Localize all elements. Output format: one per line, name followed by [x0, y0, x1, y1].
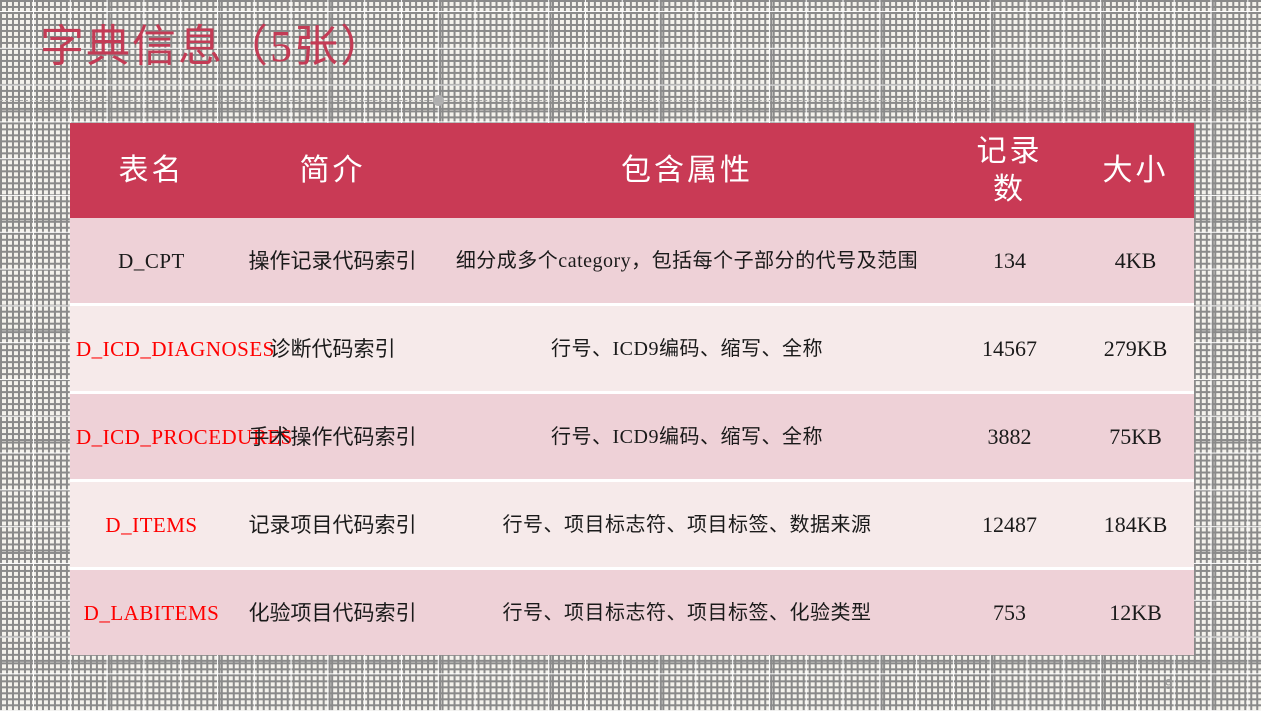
cell-summary: 记录项目代码索引 [233, 482, 432, 567]
column-header-record-count: 记录数 [942, 123, 1077, 218]
cell-size: 184KB [1077, 482, 1194, 567]
cell-record-count: 14567 [942, 306, 1077, 391]
table-row: D_ITEMS 记录项目代码索引 行号、项目标志符、项目标签、数据来源 1248… [70, 482, 1194, 567]
table-header: 表名 简介 包含属性 记录数 大小 [70, 123, 1194, 218]
slide-canvas: 字典信息（5张） 表名 简介 包含属性 记录数 大小 [0, 0, 1261, 711]
cell-record-count: 12487 [942, 482, 1077, 567]
table-row: D_ICD_PROCEDURES 手术操作代码索引 行号、ICD9编码、缩写、全… [70, 394, 1194, 479]
horizontal-guide-line[interactable] [0, 100, 1261, 102]
table-row: D_CPT 操作记录代码索引 细分成多个category，包括每个子部分的代号及… [70, 218, 1194, 303]
cell-size: 4KB [1077, 218, 1194, 303]
cell-record-count: 134 [942, 218, 1077, 303]
cell-summary: 操作记录代码索引 [233, 218, 432, 303]
dictionary-table: 表名 简介 包含属性 记录数 大小 D_CPT 操作记录代码索引 细分成多个ca… [70, 123, 1194, 655]
column-header-attributes: 包含属性 [432, 123, 942, 218]
cell-attributes: 行号、ICD9编码、缩写、全称 [432, 306, 942, 391]
cell-summary: 化验项目代码索引 [233, 570, 432, 655]
cell-attributes: 行号、项目标志符、项目标签、数据来源 [432, 482, 942, 567]
dictionary-table-container: 表名 简介 包含属性 记录数 大小 D_CPT 操作记录代码索引 细分成多个ca… [70, 123, 1194, 655]
cell-size: 279KB [1077, 306, 1194, 391]
guide-handle-icon[interactable] [433, 95, 444, 106]
slide-title: 字典信息（5张） [40, 18, 386, 76]
column-header-summary: 简介 [233, 123, 432, 218]
cell-summary: 手术操作代码索引 [233, 394, 432, 479]
cell-record-count: 753 [942, 570, 1077, 655]
cell-attributes: 细分成多个category，包括每个子部分的代号及范围 [432, 218, 942, 303]
cell-attributes: 行号、ICD9编码、缩写、全称 [432, 394, 942, 479]
table-row: D_LABITEMS 化验项目代码索引 行号、项目标志符、项目标签、化验类型 7… [70, 570, 1194, 655]
table-row: D_ICD_DIAGNOSES 诊断代码索引 行号、ICD9编码、缩写、全称 1… [70, 306, 1194, 391]
cell-table-name: D_ICD_DIAGNOSES [70, 306, 233, 391]
cell-table-name: D_CPT [70, 218, 233, 303]
table-body: D_CPT 操作记录代码索引 细分成多个category，包括每个子部分的代号及… [70, 218, 1194, 655]
cell-attributes: 行号、项目标志符、项目标签、化验类型 [432, 570, 942, 655]
cell-size: 12KB [1077, 570, 1194, 655]
cell-size: 75KB [1077, 394, 1194, 479]
page-number: 9 [1165, 676, 1173, 693]
cell-record-count: 3882 [942, 394, 1077, 479]
table-header-row: 表名 简介 包含属性 记录数 大小 [70, 123, 1194, 218]
cell-table-name: D_ICD_PROCEDURES [70, 394, 233, 479]
column-header-size: 大小 [1077, 123, 1194, 218]
cell-table-name: D_LABITEMS [70, 570, 233, 655]
cell-table-name: D_ITEMS [70, 482, 233, 567]
column-header-name: 表名 [70, 123, 233, 218]
